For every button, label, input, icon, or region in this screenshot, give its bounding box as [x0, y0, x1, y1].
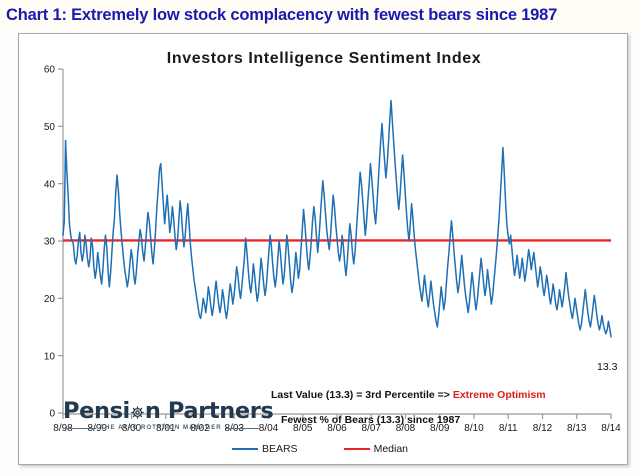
- chart-screenshot: Chart 1: Extremely low stock complacency…: [0, 0, 640, 476]
- logo-rule-right: [226, 428, 259, 429]
- annotation-last-value-text: Last Value (13.3) = 3rd Percentile =>: [271, 389, 453, 401]
- x-tick-label: 8/11: [499, 423, 518, 434]
- legend-swatch-bears: [232, 448, 258, 451]
- y-tick-label: 10: [44, 351, 56, 362]
- logo-word-part2: n Partners: [145, 398, 274, 424]
- end-point-value-label: 13.3: [597, 361, 617, 373]
- logo-tagline-row: THE ATAC ROTATION MANAGER: [63, 425, 259, 431]
- logo-word-part1: Pensi: [63, 398, 130, 424]
- x-tick-label: 8/10: [464, 423, 484, 434]
- logo-rule-left: [63, 428, 96, 429]
- x-tick-label: 8/13: [567, 423, 587, 434]
- logo-tagline: THE ATAC ROTATION MANAGER: [96, 425, 226, 431]
- y-tick-label: 30: [44, 237, 56, 248]
- chart-legend: BEARS Median: [0, 443, 640, 455]
- y-tick-label: 50: [44, 122, 56, 133]
- annotation-fewest-bears: Fewest % of Bears (13.3) since 1987: [281, 414, 460, 426]
- legend-label-bears: BEARS: [262, 443, 298, 455]
- legend-item-median: Median: [344, 443, 408, 455]
- legend-item-bears: BEARS: [232, 443, 298, 455]
- annotation-extreme-optimism: Extreme Optimism: [453, 389, 546, 401]
- chart-panel: Investors Intelligence Sentiment Index 0…: [18, 33, 628, 465]
- x-tick-label: 8/12: [533, 423, 553, 434]
- pension-partners-logo: Pensin Partners THE ATAC ROTATION MANAGE…: [63, 398, 263, 436]
- legend-label-median: Median: [374, 443, 408, 455]
- tick-label-group: 01020304050608/988/998/008/018/028/038/0…: [44, 65, 621, 434]
- y-tick-label: 60: [44, 65, 56, 76]
- axis-group: [58, 69, 611, 419]
- logo-wordmark: Pensin Partners: [63, 398, 263, 424]
- gear-icon: [130, 400, 145, 415]
- y-tick-label: 40: [44, 179, 56, 190]
- x-tick-label: 8/14: [601, 423, 621, 434]
- legend-swatch-median: [344, 448, 370, 451]
- y-tick-label: 20: [44, 294, 56, 305]
- annotation-last-value: Last Value (13.3) = 3rd Percentile => Ex…: [271, 389, 546, 401]
- headline-title: Chart 1: Extremely low stock complacency…: [0, 0, 640, 30]
- series-line-bears: [63, 101, 611, 337]
- series-group: [63, 101, 611, 337]
- y-tick-label: 0: [49, 409, 55, 420]
